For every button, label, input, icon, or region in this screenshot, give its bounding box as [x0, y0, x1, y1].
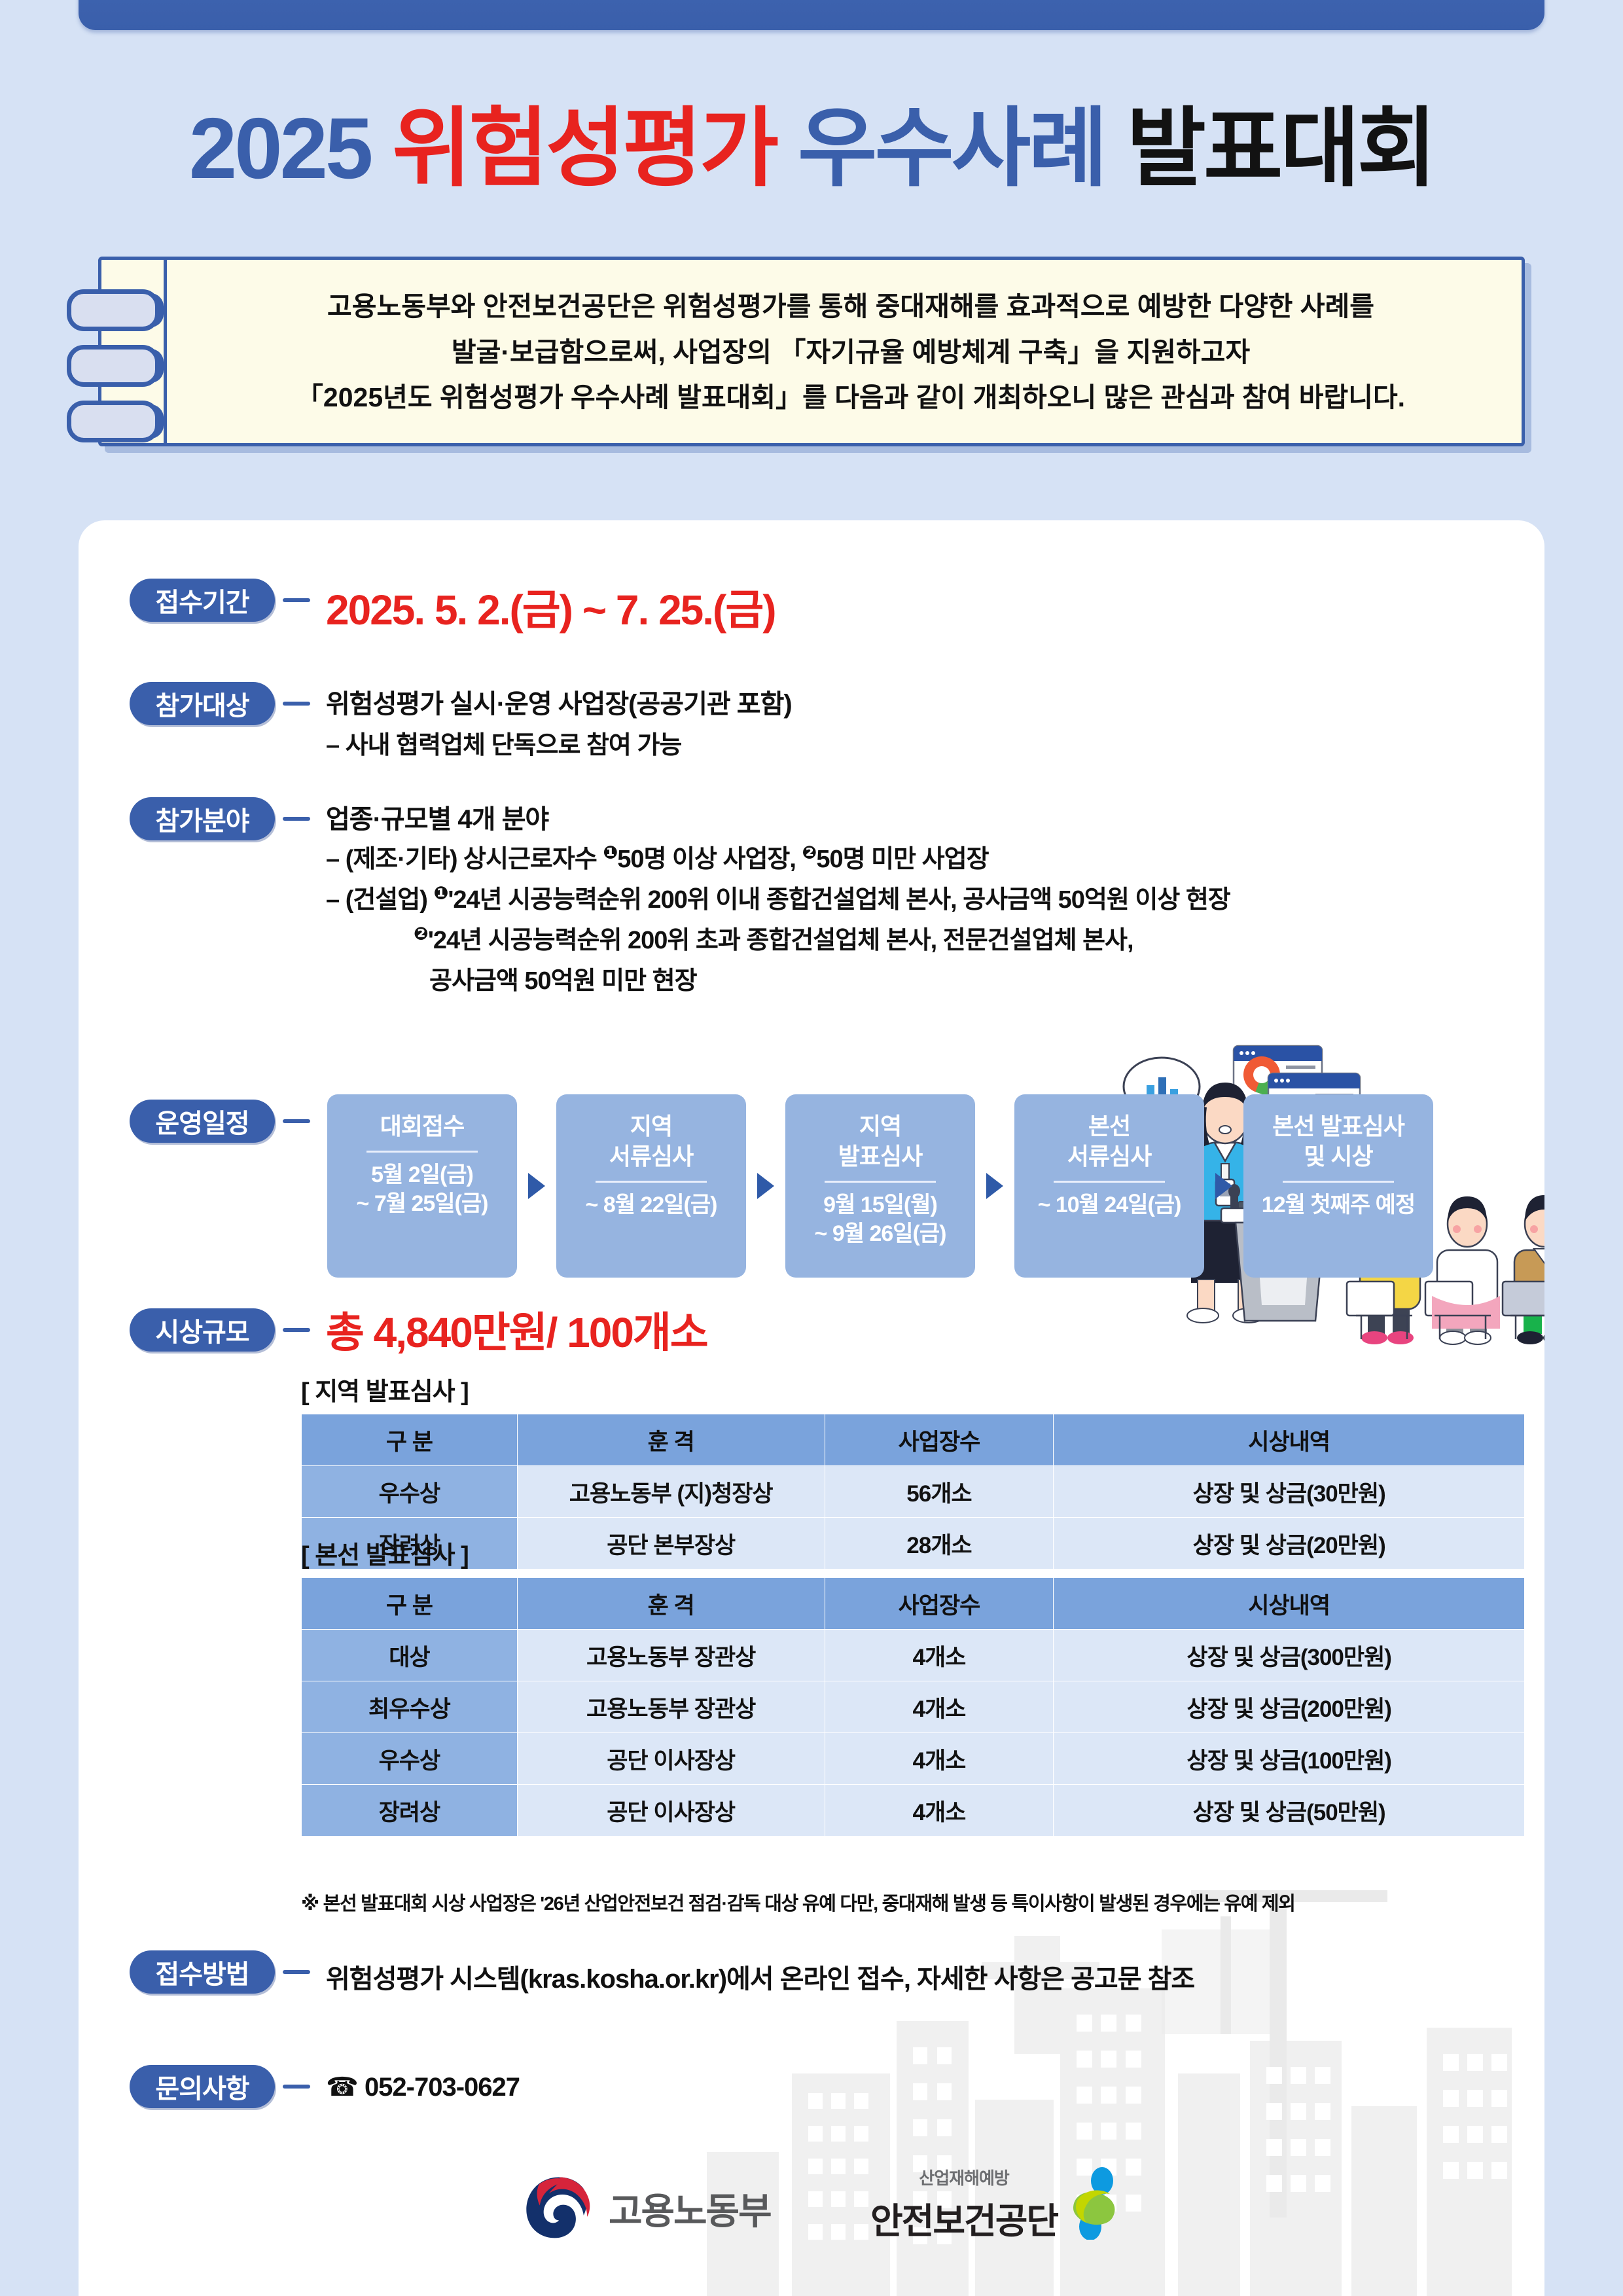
- section-label-awards: 시상규모: [130, 1308, 275, 1352]
- taegeuk-government-icon: [524, 2173, 594, 2244]
- flow-arrow-icon: [517, 1094, 556, 1278]
- fields-l1-mid: 50명 이상 사업장,: [617, 846, 802, 873]
- schedule-step-title: 대회접수: [380, 1111, 464, 1141]
- section-label-inquiry: 문의사항: [130, 2065, 275, 2108]
- target-line-2: – 사내 협력업체 단독으로 참여 가능: [326, 725, 681, 761]
- intro-line-2c: 을 지원하고자: [1094, 337, 1250, 367]
- intro-line-1: 고용노동부와 안전보건공단은 위험성평가를 통해 중대재해를 효과적으로 예방한…: [327, 287, 1374, 326]
- table-row: 최우수상고용노동부 장관상4개소상장 및 상금(200만원): [302, 1681, 1525, 1733]
- schedule-step-divider: [1283, 1181, 1394, 1183]
- table-cell: 상장 및 상금(50만원): [1054, 1785, 1525, 1837]
- table-cell: 상장 및 상금(20만원): [1054, 1518, 1525, 1570]
- fields-l3-post: '24년 시공능력순위 200위 초과 종합건설업체 본사, 전문건설업체 본사…: [428, 927, 1133, 954]
- page-title: 2025 위험성평가 우수사례 발표대회: [0, 79, 1623, 204]
- table-cell: 56개소: [825, 1466, 1054, 1518]
- fields-heading: 업종·규모별 4개 분야: [326, 798, 548, 836]
- binder-ring-icon: [67, 401, 160, 442]
- schedule-step-date: ~ 8월 22일(금): [586, 1191, 717, 1219]
- title-risk-assessment: 위험성평가: [392, 100, 776, 196]
- intro-line-3-emphasis: 「2025년도 위험성평가 우수사례 발표대회」: [296, 382, 802, 412]
- table-cell: 4개소: [825, 1733, 1054, 1785]
- table-header-row: 구 분훈 격사업장수시상내역: [302, 1414, 1525, 1466]
- table-cell: 장려상: [302, 1785, 518, 1837]
- schedule-step-divider: [366, 1151, 478, 1153]
- label-dash: [283, 2085, 310, 2089]
- top-blue-bar: [79, 0, 1544, 30]
- fields-l1-post: 50명 미만 사업장: [816, 846, 988, 873]
- awards-footnote: ※ 본선 발표대회 시상 사업장은 '26년 산업안전보건 점검·감독 대상 유…: [301, 1888, 1295, 1916]
- table-column-header: 사업장수: [825, 1578, 1054, 1630]
- table-column-header: 시상내역: [1054, 1414, 1525, 1466]
- table-cell: 4개소: [825, 1681, 1054, 1733]
- label-dash: [283, 1328, 310, 1332]
- table-cell: 공단 본부장상: [517, 1518, 825, 1570]
- binder-ring-icon: [67, 345, 160, 387]
- content-panel: 접수기간 2025. 5. 2.(금) ~ 7. 25.(금) 참가대상 위험성…: [79, 520, 1544, 2296]
- poster-root: 2025 위험성평가 우수사례 발표대회 고용노동부와 안전보건공단은 위험성평…: [0, 0, 1623, 2296]
- title-contest: 발표대회: [1126, 100, 1434, 196]
- fields-line-4: 공사금액 50억원 미만 현장: [429, 960, 697, 996]
- flow-arrow-icon: [746, 1094, 785, 1278]
- schedule-step: 본선 발표심사및 시상12월 첫째주 예정: [1243, 1094, 1433, 1278]
- schedule-step: 본선서류심사~ 10월 24일(금): [1014, 1094, 1204, 1278]
- schedule-step-date: 9월 15일(월)~ 9월 26일(금): [815, 1191, 946, 1248]
- logo-kosha-tagline: 산업재해예방: [919, 2165, 1009, 2189]
- intro-line-3: 「2025년도 위험성평가 우수사례 발표대회」를 다음과 같이 개최하오니 많…: [296, 378, 1405, 417]
- schedule-step-title: 지역서류심사: [609, 1111, 693, 1172]
- intro-line-2: 발굴·보급함으로써, 사업장의 「자기규율 예방체계 구축」을 지원하고자: [452, 333, 1250, 372]
- table-cell: 상장 및 상금(30만원): [1054, 1466, 1525, 1518]
- table-row: 장려상공단 본부장상28개소상장 및 상금(20만원): [302, 1518, 1525, 1570]
- fields-line-2: – (건설업) ❶'24년 시공능력순위 200위 이내 종합건설업체 본사, …: [326, 879, 1230, 915]
- table-header-row: 구 분훈 격사업장수시상내역: [302, 1578, 1525, 1630]
- label-dash: [283, 1970, 310, 1974]
- schedule-step: 지역발표심사9월 15일(월)~ 9월 26일(금): [785, 1094, 975, 1278]
- marker-two-icon: ❷: [802, 842, 817, 862]
- table-cell: 대상: [302, 1630, 518, 1681]
- logo-kosha-label: 안전보건공단: [870, 2192, 1058, 2244]
- caption-regional: [ 지역 발표심사 ]: [301, 1371, 469, 1407]
- flow-arrow-icon: [975, 1094, 1014, 1278]
- section-label-fields: 참가분야: [130, 797, 275, 840]
- fields-line-3: ❷'24년 시공능력순위 200위 초과 종합건설업체 본사, 전문건설업체 본…: [414, 920, 1133, 956]
- apply-value[interactable]: 위험성평가 시스템(kras.kosha.or.kr)에서 온라인 접수, 자세…: [326, 1958, 1194, 1996]
- flow-arrow-icon: [1204, 1094, 1243, 1278]
- table-cell: 우수상: [302, 1733, 518, 1785]
- logo-kosha: 산업재해예방 안전보건공단: [870, 2165, 1124, 2244]
- table-cell: 4개소: [825, 1630, 1054, 1681]
- table-row: 대상고용노동부 장관상4개소상장 및 상금(300만원): [302, 1630, 1525, 1681]
- table-row: 우수상공단 이사장상4개소상장 및 상금(100만원): [302, 1733, 1525, 1785]
- schedule-step-title: 본선서류심사: [1067, 1111, 1151, 1172]
- table-cell: 4개소: [825, 1785, 1054, 1837]
- schedule-step-divider: [825, 1181, 936, 1183]
- table-row: 장려상공단 이사장상4개소상장 및 상금(50만원): [302, 1785, 1525, 1837]
- table-cell: 상장 및 상금(300만원): [1054, 1630, 1525, 1681]
- intro-text: 고용노동부와 안전보건공단은 위험성평가를 통해 중대재해를 효과적으로 예방한…: [196, 272, 1505, 433]
- section-label-period: 접수기간: [130, 579, 275, 622]
- marker-one-icon: ❶: [603, 842, 617, 862]
- intro-binder-line: [164, 257, 167, 446]
- schedule-step: 대회접수5월 2일(금)~ 7월 25일(금): [327, 1094, 517, 1278]
- title-year: 2025: [189, 100, 371, 196]
- section-label-schedule: 운영일정: [130, 1100, 275, 1143]
- logo-ministry-of-employment-and-labor: 고용노동부: [524, 2173, 771, 2244]
- intro-line-2a: 발굴·보급함으로써, 사업장의: [452, 337, 779, 367]
- table-column-header: 시상내역: [1054, 1578, 1525, 1630]
- label-dash: [283, 817, 310, 821]
- marker-two-icon: ❷: [414, 924, 428, 943]
- section-label-target: 참가대상: [130, 682, 275, 725]
- intro-note: 고용노동부와 안전보건공단은 위험성평가를 통해 중대재해를 효과적으로 예방한…: [98, 257, 1525, 446]
- label-dash: [283, 702, 310, 706]
- fields-l2-pre: – (건설업): [326, 886, 433, 914]
- schedule-step-title: 지역발표심사: [838, 1111, 922, 1172]
- awards-table-final: 구 분훈 격사업장수시상내역 대상고용노동부 장관상4개소상장 및 상금(300…: [301, 1577, 1525, 1837]
- kosha-symbol-icon: [1064, 2166, 1124, 2240]
- marker-one-icon: ❶: [433, 883, 448, 903]
- footer-logos: 고용노동부 산업재해예방 안전보건공단: [79, 2153, 1544, 2284]
- table-cell: 상장 및 상금(200만원): [1054, 1681, 1525, 1733]
- binder-ring-icon: [67, 289, 160, 331]
- fields-l2-post: '24년 시공능력순위 200위 이내 종합건설업체 본사, 공사금액 50억원…: [448, 886, 1230, 914]
- table-column-header: 훈 격: [517, 1578, 825, 1630]
- period-value: 2025. 5. 2.(금) ~ 7. 25.(금): [326, 577, 776, 637]
- table-row: 우수상고용노동부 (지)청장상56개소상장 및 상금(30만원): [302, 1466, 1525, 1518]
- table-cell: 고용노동부 (지)청장상: [517, 1466, 825, 1518]
- table-cell: 상장 및 상금(100만원): [1054, 1733, 1525, 1785]
- table-cell: 28개소: [825, 1518, 1054, 1570]
- table-column-header: 훈 격: [517, 1414, 825, 1466]
- intro-line-3b: 를 다음과 같이 개최하오니 많은 관심과 참여 바랍니다.: [802, 382, 1405, 412]
- table-column-header: 구 분: [302, 1414, 518, 1466]
- table-column-header: 사업장수: [825, 1414, 1054, 1466]
- table-cell: 공단 이사장상: [517, 1785, 825, 1837]
- table-cell: 최우수상: [302, 1681, 518, 1733]
- schedule-step-date: 5월 2일(금)~ 7월 25일(금): [357, 1160, 488, 1218]
- table-cell: 공단 이사장상: [517, 1733, 825, 1785]
- label-dash: [283, 1119, 310, 1123]
- target-line-1: 위험성평가 실시·운영 사업장(공공기관 포함): [326, 683, 792, 721]
- schedule-step-divider: [596, 1181, 707, 1183]
- caption-final: [ 본선 발표심사 ]: [301, 1535, 469, 1571]
- table-cell: 고용노동부 장관상: [517, 1630, 825, 1681]
- schedule-flow: 대회접수5월 2일(금)~ 7월 25일(금)지역서류심사~ 8월 22일(금)…: [327, 1094, 1531, 1278]
- schedule-step-date: ~ 10월 24일(금): [1038, 1191, 1181, 1219]
- schedule-step-title: 본선 발표심사및 시상: [1272, 1111, 1404, 1172]
- table-column-header: 구 분: [302, 1578, 518, 1630]
- schedule-step-date: 12월 첫째주 예정: [1262, 1191, 1415, 1219]
- awards-table-regional: 구 분훈 격사업장수시상내역 우수상고용노동부 (지)청장상56개소상장 및 상…: [301, 1414, 1525, 1570]
- title-best-practice: 우수사례: [798, 100, 1105, 196]
- table-cell: 고용노동부 장관상: [517, 1681, 825, 1733]
- fields-l1-pre: – (제조·기타) 상시근로자수: [326, 846, 603, 873]
- intro-line-2-emphasis: 「자기규율 예방체계 구축」: [779, 337, 1094, 367]
- table-cell: 우수상: [302, 1466, 518, 1518]
- schedule-step: 지역서류심사~ 8월 22일(금): [556, 1094, 746, 1278]
- section-label-apply: 접수방법: [130, 1950, 275, 1994]
- inquiry-value: ☎ 052-703-0627: [326, 2072, 520, 2102]
- label-dash: [283, 598, 310, 602]
- schedule-step-divider: [1054, 1181, 1165, 1183]
- logo-molab-label: 고용노동부: [609, 2182, 771, 2235]
- fields-line-1: – (제조·기타) 상시근로자수 ❶50명 이상 사업장, ❷50명 미만 사업…: [326, 838, 989, 874]
- awards-total: 총 4,840만원/ 100개소: [326, 1299, 707, 1359]
